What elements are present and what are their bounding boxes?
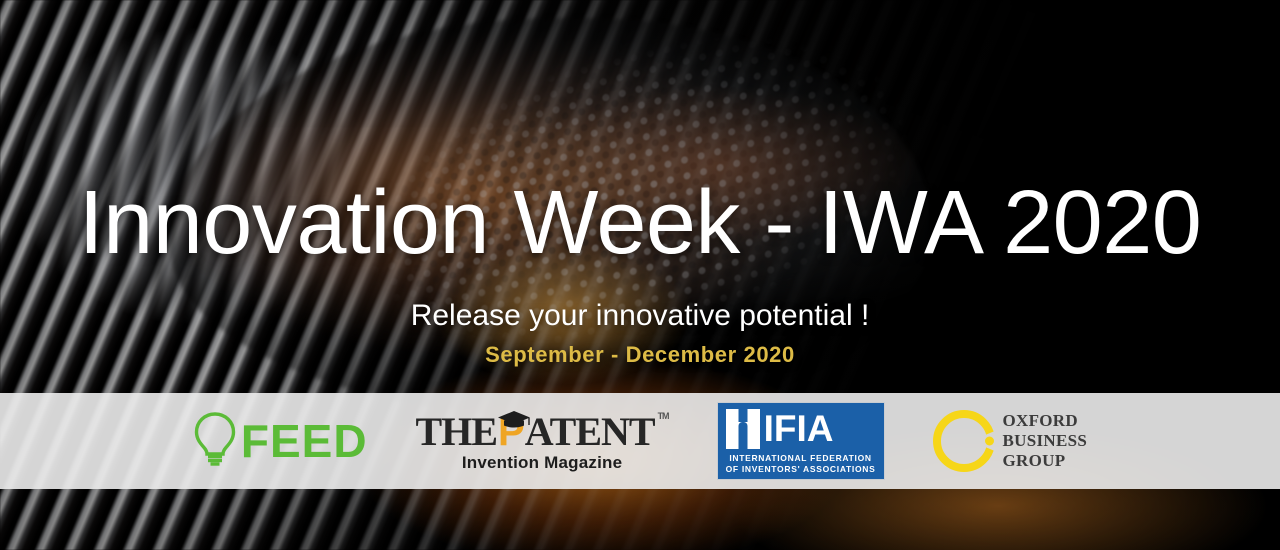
partner-logo-oxford-business-group[interactable]: OXFORD BUSINESS GROUP xyxy=(933,410,1088,472)
patent-word-the: THE xyxy=(416,412,497,452)
patent-wordmark: THE P ATENT TM xyxy=(416,412,669,452)
ifia-monogram-icon xyxy=(726,409,760,449)
patent-letter-p: P xyxy=(497,412,525,452)
ifia-subtitle-line-1: INTERNATIONAL FEDERATION xyxy=(726,453,876,464)
obg-line-3: GROUP xyxy=(1003,451,1088,471)
patent-word-rest: ATENT xyxy=(525,412,655,452)
ifia-subtitle: INTERNATIONAL FEDERATION OF INVENTORS' A… xyxy=(726,453,876,474)
banner-tagline: Release your innovative potential ! xyxy=(0,301,1280,331)
page-title: Innovation Week - IWA 2020 xyxy=(0,178,1280,268)
graduation-cap-icon xyxy=(497,395,531,435)
patent-trademark-mark: TM xyxy=(658,412,669,421)
event-banner: Innovation Week - IWA 2020 Release your … xyxy=(0,0,1280,550)
partner-logo-ifia[interactable]: IFIA INTERNATIONAL FEDERATION OF INVENTO… xyxy=(717,402,885,480)
partner-logo-the-patent[interactable]: THE P ATENT TM Invention Magazine xyxy=(416,412,669,471)
ifia-subtitle-line-2: OF INVENTORS' ASSOCIATIONS xyxy=(726,464,876,475)
open-ring-dot xyxy=(985,437,994,446)
lightbulb-icon xyxy=(193,411,237,472)
ifia-wordmark: IFIA xyxy=(764,410,834,447)
partner-logo-bar: FEED THE P ATENT TM xyxy=(0,393,1280,489)
banner-date-range: September - December 2020 xyxy=(0,344,1280,366)
obg-line-2: BUSINESS xyxy=(1003,431,1088,451)
feed-wordmark: FEED xyxy=(241,418,368,464)
ifia-wordmark-row: IFIA xyxy=(726,409,876,449)
patent-tagline: Invention Magazine xyxy=(462,454,622,471)
open-ring-icon xyxy=(933,410,995,472)
obg-line-1: OXFORD xyxy=(1003,411,1088,431)
partner-logo-feed[interactable]: FEED xyxy=(193,411,368,472)
obg-wordmark: OXFORD BUSINESS GROUP xyxy=(1003,411,1088,471)
